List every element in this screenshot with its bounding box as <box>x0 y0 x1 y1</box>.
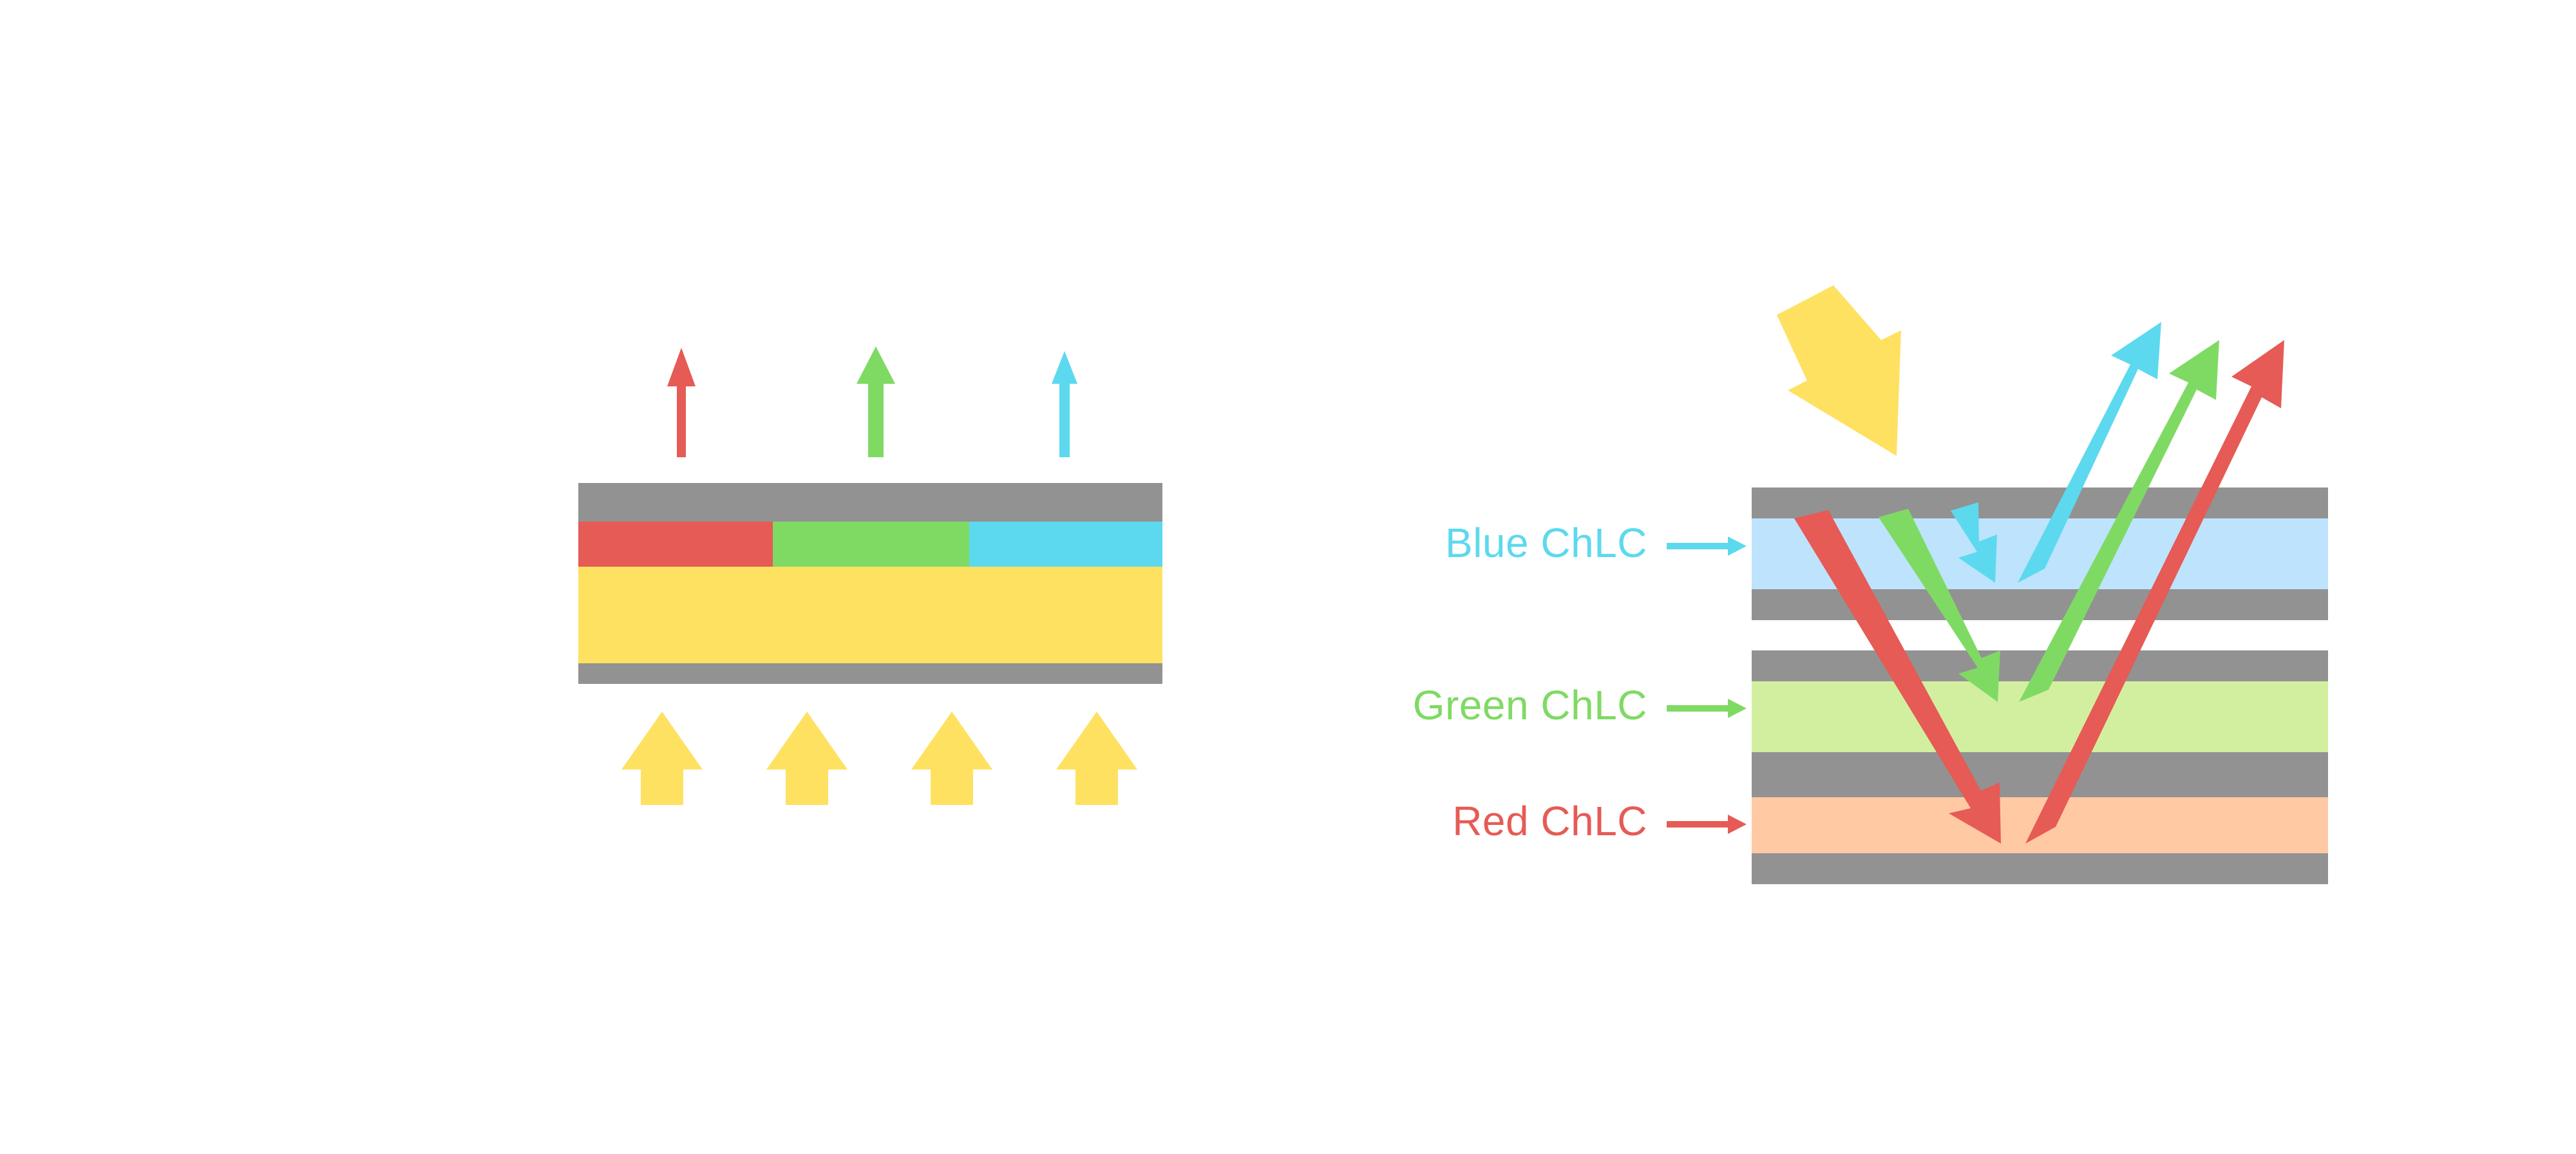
diagram-root: Blue ChLC Green ChLC Red ChLC <box>0 0 2576 1154</box>
red-chlc-label: Red ChLC <box>1452 798 1647 844</box>
green-chlc-label: Green ChLC <box>1413 682 1647 728</box>
blue-chlc-label: Blue ChLC <box>1445 520 1647 566</box>
left-stack <box>578 483 1162 684</box>
diagram-canvas: Blue ChLC Green ChLC Red ChLC <box>0 0 2576 1154</box>
blue-cell-top-electrode <box>1752 487 2328 518</box>
left-green-segment <box>773 522 969 567</box>
left-bottom-electrode <box>578 663 1162 684</box>
left-top-electrode <box>578 483 1162 522</box>
left-backlight-layer <box>578 567 1162 663</box>
red-cell-top-electrode <box>1752 766 2328 797</box>
red-cell-bottom-electrode <box>1752 853 2328 884</box>
left-red-segment <box>578 522 773 567</box>
blue-cell-bottom-electrode <box>1752 589 2328 620</box>
left-blue-segment <box>969 522 1162 567</box>
